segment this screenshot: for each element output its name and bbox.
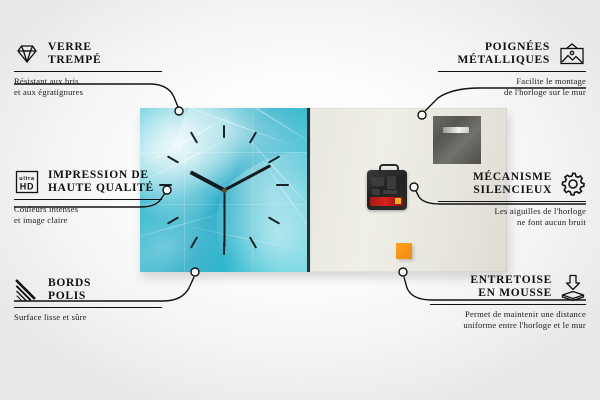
callout-title: VERRE TREMPÉ xyxy=(48,41,101,67)
infographic-canvas: VERRE TREMPÉ Résistant aux bris et aux é… xyxy=(0,0,600,400)
callout-description: Facilite le montage de l'horloge sur le … xyxy=(438,76,586,97)
callout-poignees-metalliques: POIGNÉES MÉTALLIQUES Facilite le montage… xyxy=(438,41,586,97)
svg-text:HD: HD xyxy=(20,182,34,192)
callout-verre-trempe: VERRE TREMPÉ Résistant aux bris et aux é… xyxy=(14,41,162,97)
polished-edges-icon xyxy=(14,279,40,301)
callout-title: IMPRESSION DE HAUTE QUALITÉ xyxy=(48,169,154,195)
callout-header: BORDS POLIS xyxy=(14,277,162,303)
battery-plus-terminal xyxy=(395,198,401,204)
hanger-slot xyxy=(443,127,469,133)
callout-header: VERRE TREMPÉ xyxy=(14,41,162,67)
callout-divider xyxy=(430,304,586,305)
callout-title: MÉCANISME SILENCIEUX xyxy=(473,171,552,197)
callout-divider xyxy=(14,307,162,308)
clock-hub xyxy=(222,188,227,193)
callout-description: Les aiguilles de l'horloge ne font aucun… xyxy=(438,206,586,227)
clock-face xyxy=(140,108,310,272)
callout-bords-polis: BORDS POLIS Surface lisse et sûre xyxy=(14,277,162,323)
diamond-icon xyxy=(14,44,40,64)
wall-mount-frame-icon xyxy=(558,42,586,66)
callout-entretoise-en-mousse: ENTRETOISE EN MOUSSE Permet de maintenir… xyxy=(430,274,586,330)
callout-description: Résistant aux bris et aux égratignures xyxy=(14,76,162,97)
callout-header: POIGNÉES MÉTALLIQUES xyxy=(438,41,586,67)
callout-impression-haute-qualite: ultra HD IMPRESSION DE HAUTE QUALITÉ Cou… xyxy=(14,169,162,225)
callout-description: Surface lisse et sûre xyxy=(14,312,162,323)
callout-header: ultra HD IMPRESSION DE HAUTE QUALITÉ xyxy=(14,169,162,195)
callout-mecanisme-silencieux: MÉCANISME SILENCIEUX Les aiguilles de l'… xyxy=(438,171,586,227)
second-hand xyxy=(224,190,226,247)
callout-header: MÉCANISME SILENCIEUX xyxy=(438,171,586,197)
callout-header: ENTRETOISE EN MOUSSE xyxy=(430,274,586,300)
ultra-hd-icon: ultra HD xyxy=(14,170,40,194)
foam-spacer xyxy=(396,243,412,259)
callout-title: POIGNÉES MÉTALLIQUES xyxy=(458,41,550,67)
metal-hanger-plate xyxy=(433,116,481,164)
callout-title: ENTRETOISE EN MOUSSE xyxy=(470,274,552,300)
battery xyxy=(370,197,403,206)
callout-divider xyxy=(438,201,586,202)
clock-mechanism xyxy=(367,170,407,210)
callout-description: Permet de maintenir une distance uniform… xyxy=(430,309,586,330)
callout-divider xyxy=(438,71,586,72)
mechanism-hook xyxy=(379,164,399,174)
callout-divider xyxy=(14,71,162,72)
callout-divider xyxy=(14,199,162,200)
gear-icon xyxy=(560,171,586,197)
foam-spacer-arrow-icon xyxy=(560,274,586,300)
callout-description: Couleurs intenses et image claire xyxy=(14,204,162,225)
callout-title: BORDS POLIS xyxy=(48,277,91,303)
